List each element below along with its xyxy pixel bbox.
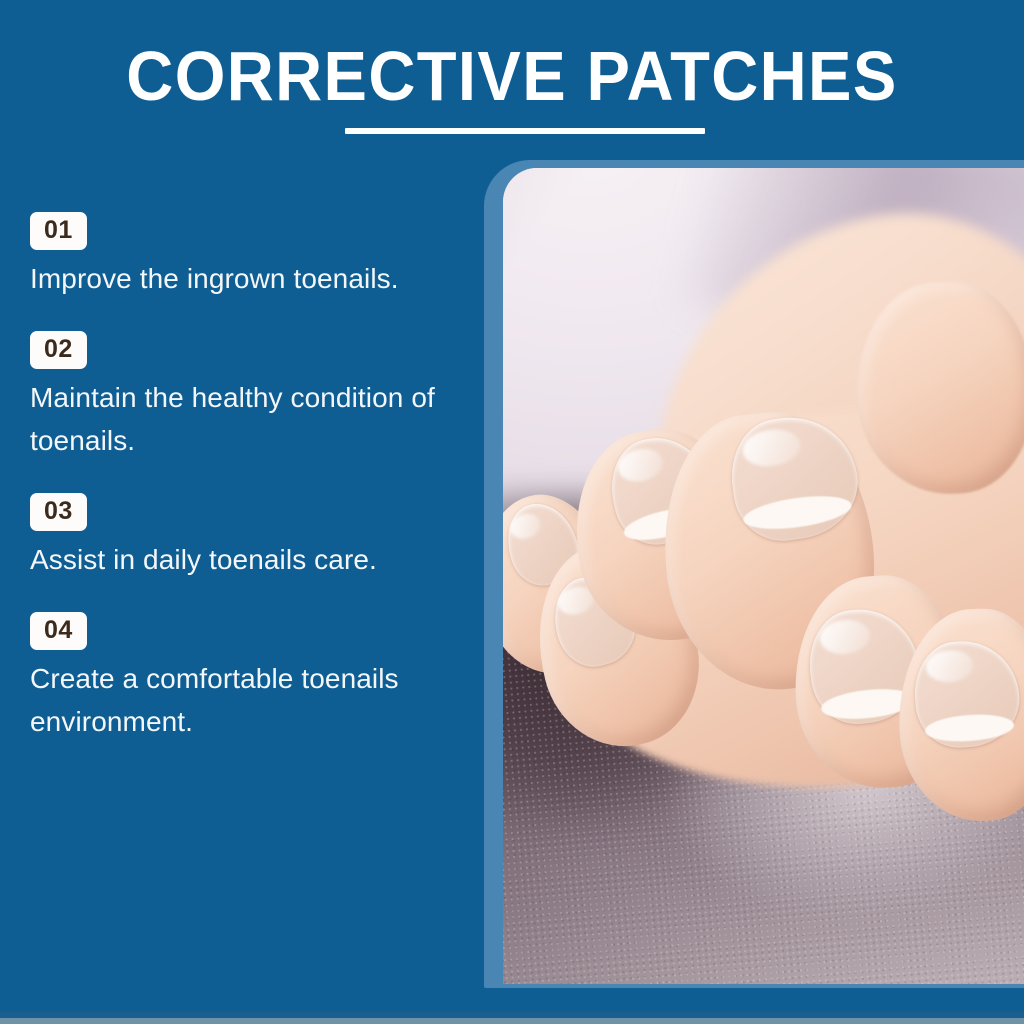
- feature-description: Improve the ingrown toenails.: [30, 257, 460, 300]
- feature-number-badge: 01: [30, 212, 87, 250]
- list-item: 01 Improve the ingrown toenails.: [30, 212, 480, 300]
- bottom-band-lower: [0, 1018, 1024, 1024]
- feature-description: Maintain the healthy condition of toenai…: [30, 376, 460, 462]
- page-title: CORRECTIVE PATCHES: [36, 38, 988, 114]
- feature-list: 01 Improve the ingrown toenails. 02 Main…: [30, 212, 480, 774]
- feature-number-badge: 03: [30, 493, 87, 531]
- list-item: 02 Maintain the healthy condition of toe…: [30, 331, 480, 462]
- list-item: 03 Assist in daily toenails care.: [30, 493, 480, 581]
- list-item: 04 Create a comfortable toenails environ…: [30, 612, 480, 743]
- photo-frame: [503, 168, 1024, 984]
- feature-description: Create a comfortable toenails environmen…: [30, 657, 460, 743]
- product-feature-poster: CORRECTIVE PATCHES 01 Improve the ingrow…: [0, 0, 1024, 1024]
- feature-description: Assist in daily toenails care.: [30, 538, 460, 581]
- toenails-photo: [503, 168, 1024, 984]
- feature-number-badge: 02: [30, 331, 87, 369]
- title-block: CORRECTIVE PATCHES: [0, 0, 1024, 158]
- feature-number-badge: 04: [30, 612, 87, 650]
- product-photo-panel: [484, 160, 1024, 988]
- title-underline-divider: [345, 128, 705, 134]
